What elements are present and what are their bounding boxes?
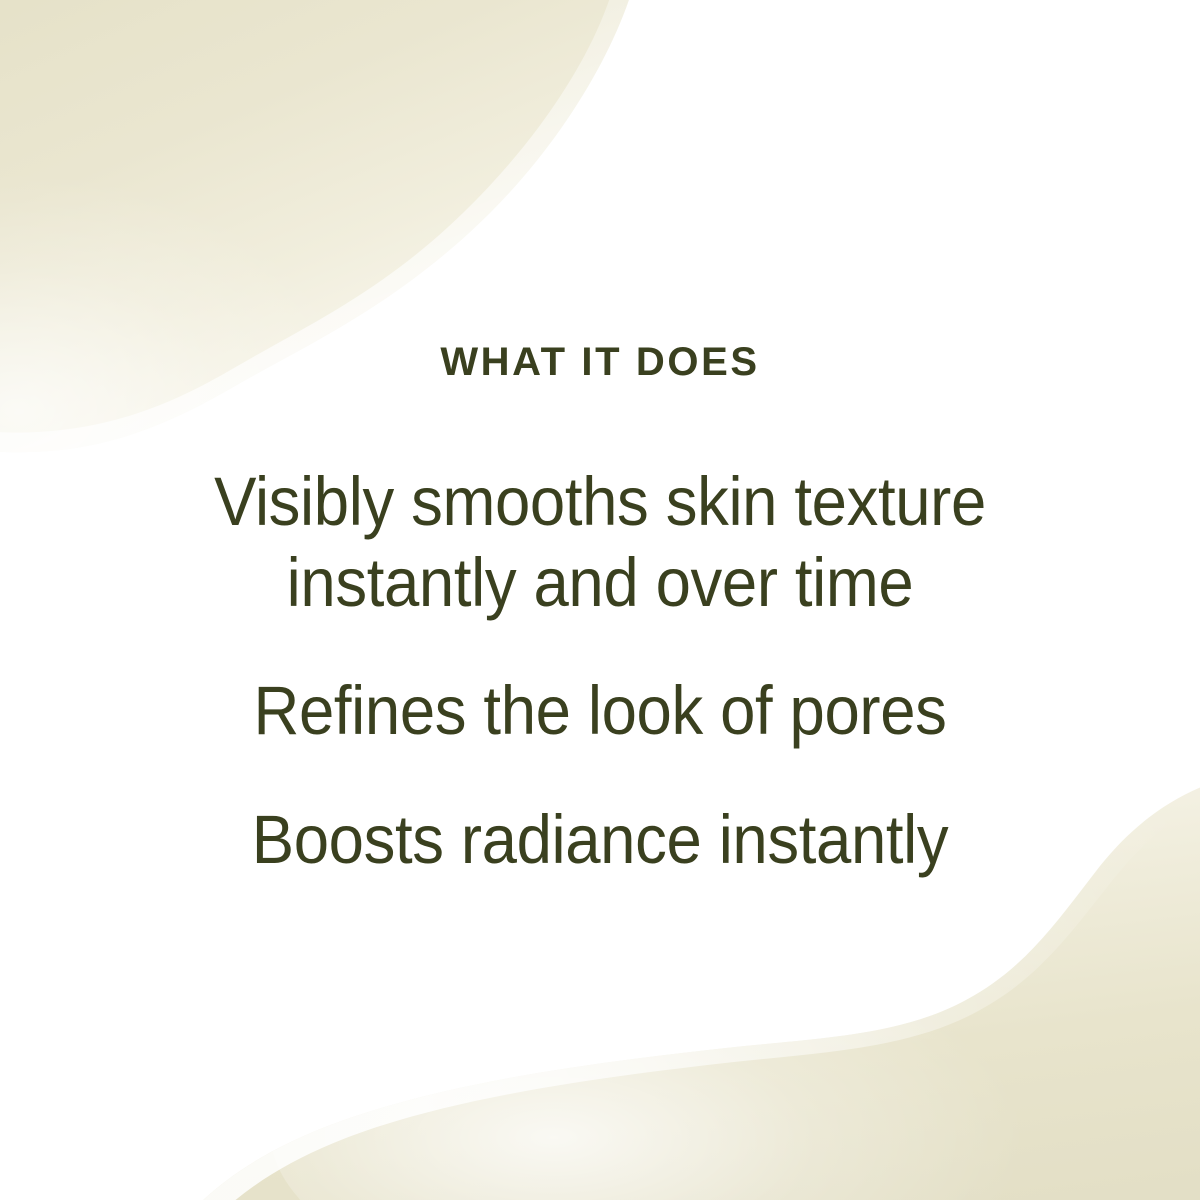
page-title: WHAT IT DOES [0,342,1200,382]
benefit-line: Boosts radiance instantly [48,800,1152,881]
benefit-line: instantly and over time [48,543,1152,624]
benefit-line: Refines the look of pores [48,671,1152,752]
product-benefits-card: WHAT IT DOES Visibly smooths skin textur… [0,0,1200,1200]
benefit-item: Visibly smooths skin texture instantly a… [48,462,1152,623]
benefit-item: Boosts radiance instantly [48,800,1152,881]
benefit-line: Visibly smooths skin texture [48,462,1152,543]
benefit-item: Refines the look of pores [48,671,1152,752]
benefit-list: Visibly smooths skin texture instantly a… [0,462,1200,881]
content-block: WHAT IT DOES Visibly smooths skin textur… [0,0,1200,1200]
